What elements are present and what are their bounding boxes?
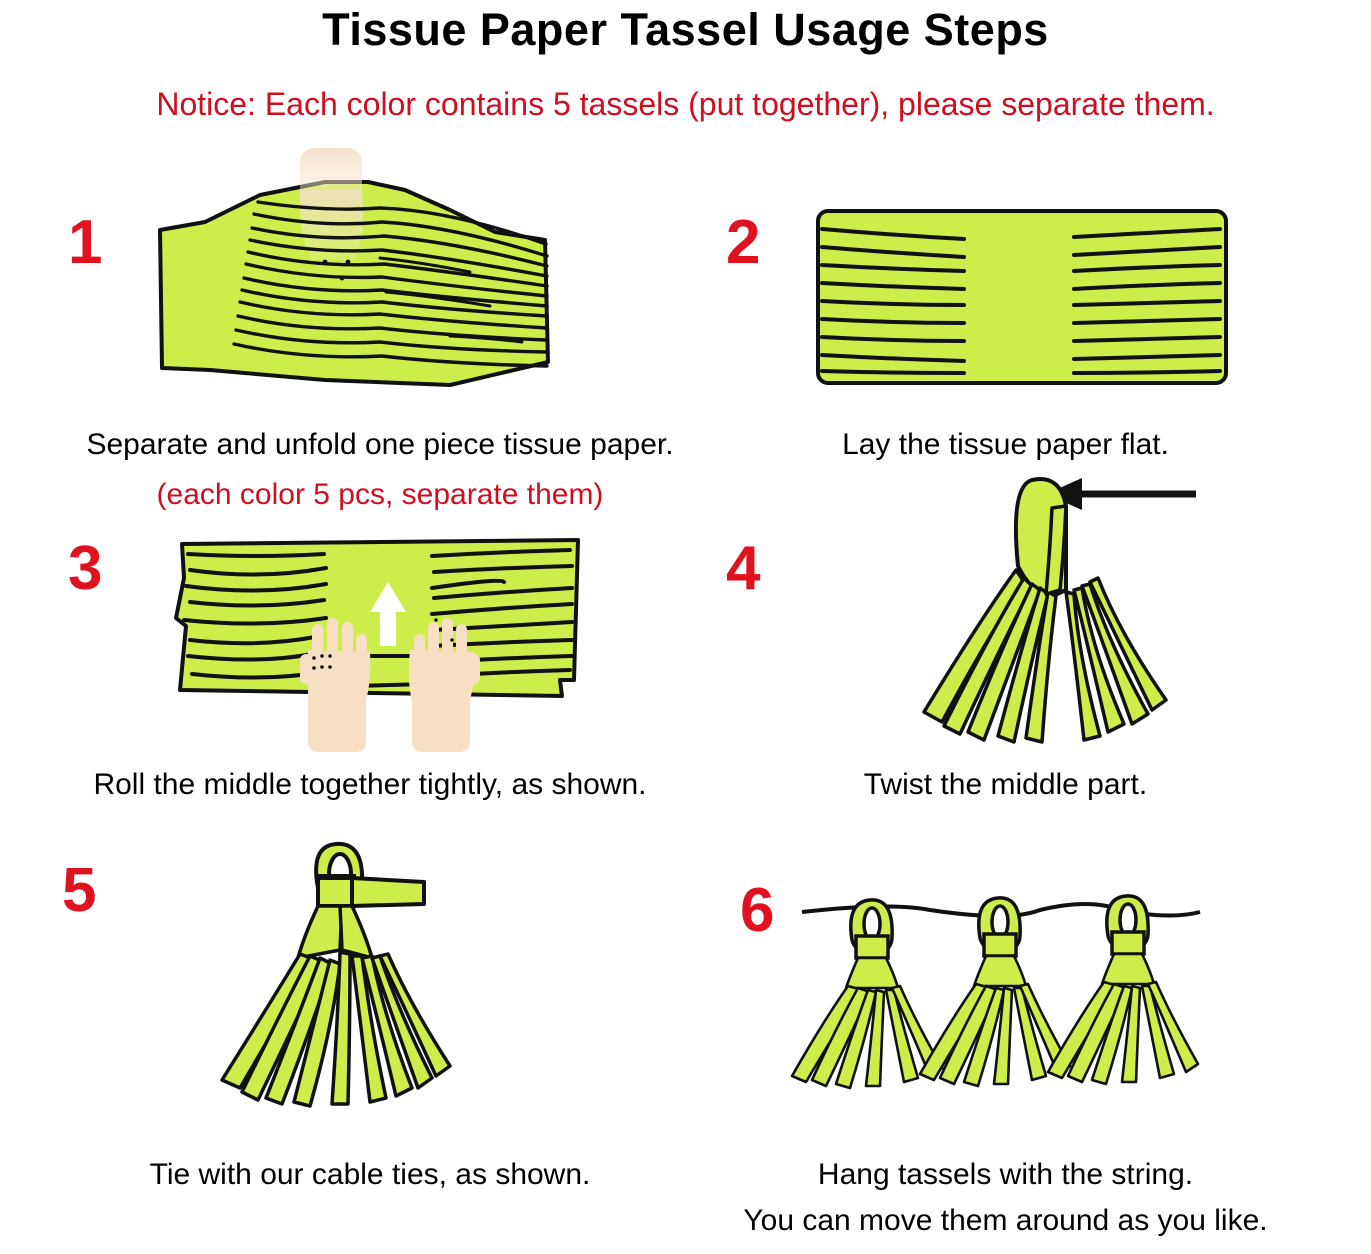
step-6-illustration xyxy=(780,880,1210,1120)
step-5-illustration xyxy=(200,830,530,1130)
step-1-illustration xyxy=(150,140,590,410)
step-2-illustration xyxy=(812,205,1232,390)
step-1-subcaption: (each color 5 pcs, separate them) xyxy=(0,478,760,512)
step-number-6: 6 xyxy=(740,880,774,942)
step-2-caption: Lay the tissue paper flat. xyxy=(640,428,1371,462)
step-number-1: 1 xyxy=(68,212,102,274)
step-4-illustration xyxy=(860,470,1240,760)
cable-tie xyxy=(318,878,424,906)
step-4-caption: Twist the middle part. xyxy=(640,768,1371,802)
step-number-3: 3 xyxy=(68,538,102,600)
step-5-caption: Tie with our cable ties, as shown. xyxy=(0,1158,740,1192)
step-6-caption-line1: Hang tassels with the string. xyxy=(640,1158,1371,1192)
step-number-4: 4 xyxy=(726,538,760,600)
instruction-sheet: Tissue Paper Tassel Usage Steps Notice: … xyxy=(0,0,1371,1254)
step-3-illustration xyxy=(160,530,600,760)
step-number-5: 5 xyxy=(62,860,96,922)
step-6-caption-line2: You can move them around as you like. xyxy=(640,1204,1371,1238)
pointer-arrow xyxy=(1046,478,1196,510)
step-number-2: 2 xyxy=(726,212,760,274)
notice-text: Notice: Each color contains 5 tassels (p… xyxy=(0,86,1371,123)
page-title: Tissue Paper Tassel Usage Steps xyxy=(0,4,1371,56)
step-3-caption: Roll the middle together tightly, as sho… xyxy=(0,768,740,802)
